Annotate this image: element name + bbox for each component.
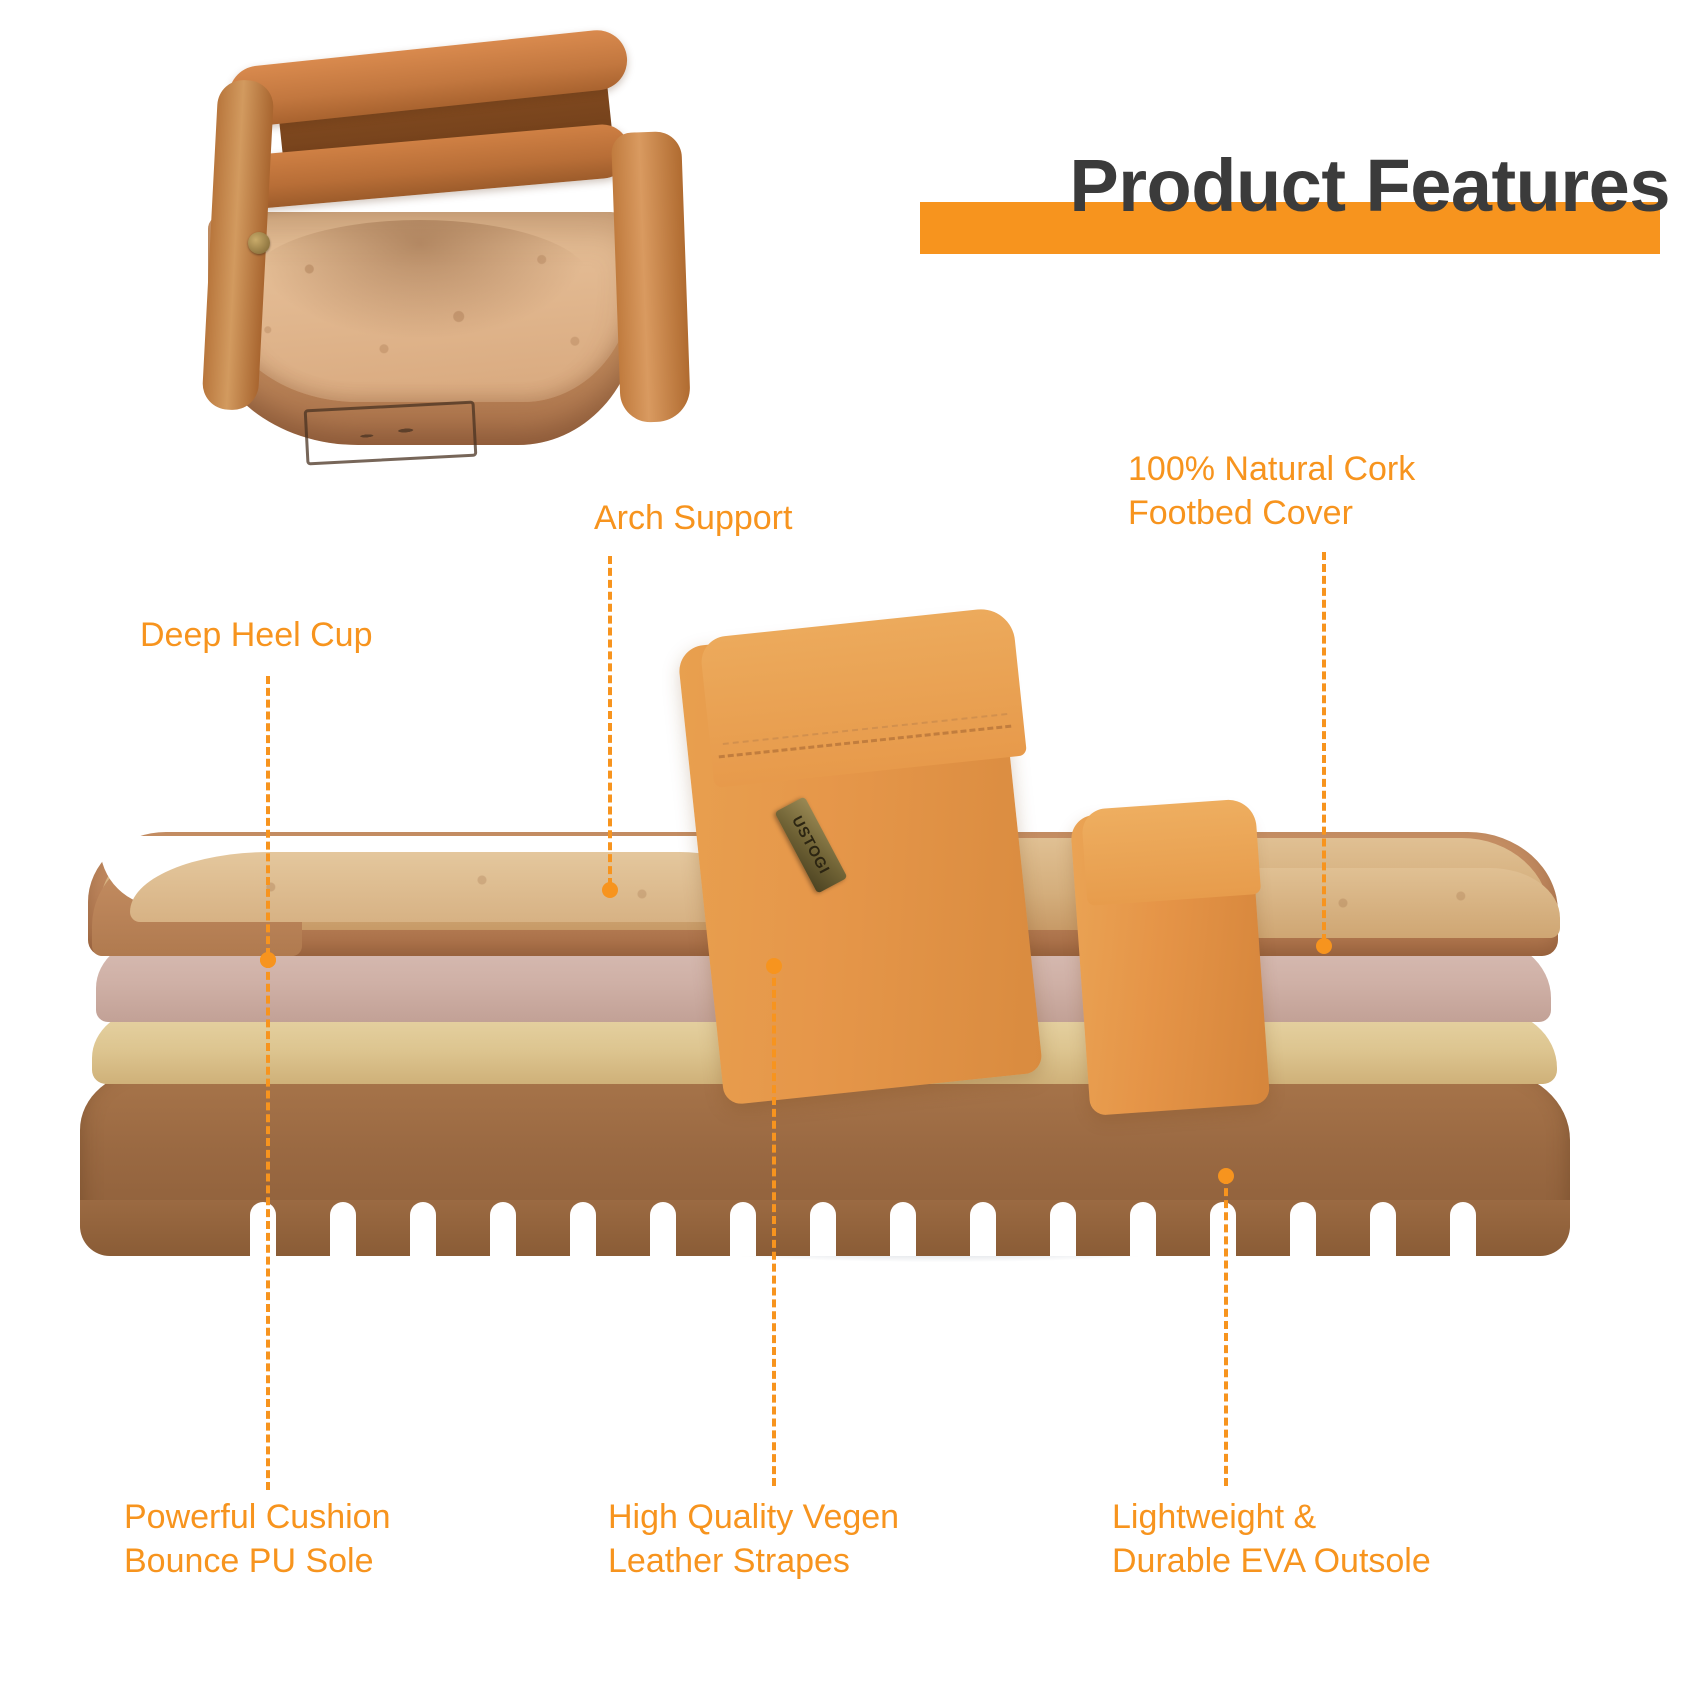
product-photo-side-view [70, 600, 1630, 1340]
infographic-canvas: Product Features [0, 0, 1700, 1700]
outsole-tread-base [80, 1200, 1570, 1256]
outsole-lug [1050, 1202, 1076, 1256]
connector-line [772, 966, 776, 1486]
toe-footbed-area [1250, 868, 1560, 938]
feature-label-vegan-leather-straps: High Quality Vegen Leather Strapes [608, 1496, 899, 1583]
outsole-lug [730, 1202, 756, 1256]
page-title: Product Features [790, 140, 1670, 233]
outsole-lug [330, 1202, 356, 1256]
buckle-pin-icon [248, 232, 270, 254]
connector-endpoint-dot [1218, 1168, 1234, 1184]
brand-swoosh-icon [328, 413, 453, 454]
inset-heel-cup-shadow [250, 220, 590, 340]
outsole-lug [570, 1202, 596, 1256]
outsole-lug [970, 1202, 996, 1256]
connector-line [266, 676, 270, 956]
outsole-lug [1450, 1202, 1476, 1256]
connector-line [1322, 552, 1326, 942]
outsole-lug [810, 1202, 836, 1256]
feature-label-deep-heel-cup: Deep Heel Cup [140, 614, 372, 658]
outsole-lug [1370, 1202, 1396, 1256]
page-title-block: Product Features [790, 140, 1670, 260]
inset-upper-strap [226, 27, 630, 128]
feature-label-eva-outsole: Lightweight & Durable EVA Outsole [1112, 1496, 1431, 1583]
connector-endpoint-dot [602, 882, 618, 898]
connector-endpoint-dot [766, 958, 782, 974]
connector-endpoint-dot [260, 952, 276, 968]
product-photo-back-view [100, 20, 660, 490]
feature-label-pu-sole: Powerful Cushion Bounce PU Sole [124, 1496, 390, 1583]
outsole-lug [1290, 1202, 1316, 1256]
feature-label-arch-support: Arch Support [594, 497, 792, 541]
arch-support-area [130, 852, 770, 922]
connector-line [266, 960, 270, 1490]
heel-logo-stamp [304, 401, 478, 466]
second-strap-highlight [1081, 798, 1261, 906]
outsole-lug [250, 1202, 276, 1256]
outsole-lug [890, 1202, 916, 1256]
outsole-lug [1130, 1202, 1156, 1256]
connector-endpoint-dot [1316, 938, 1332, 954]
inset-lower-strap [218, 122, 631, 212]
outsole-lug [410, 1202, 436, 1256]
connector-line [608, 556, 612, 886]
outsole-lug [1210, 1202, 1236, 1256]
inset-heel-tab [611, 131, 691, 423]
feature-label-natural-cork-footbed: 100% Natural Cork Footbed Cover [1128, 448, 1415, 535]
outsole-lug [650, 1202, 676, 1256]
connector-line [1224, 1176, 1228, 1486]
outsole-lug [490, 1202, 516, 1256]
